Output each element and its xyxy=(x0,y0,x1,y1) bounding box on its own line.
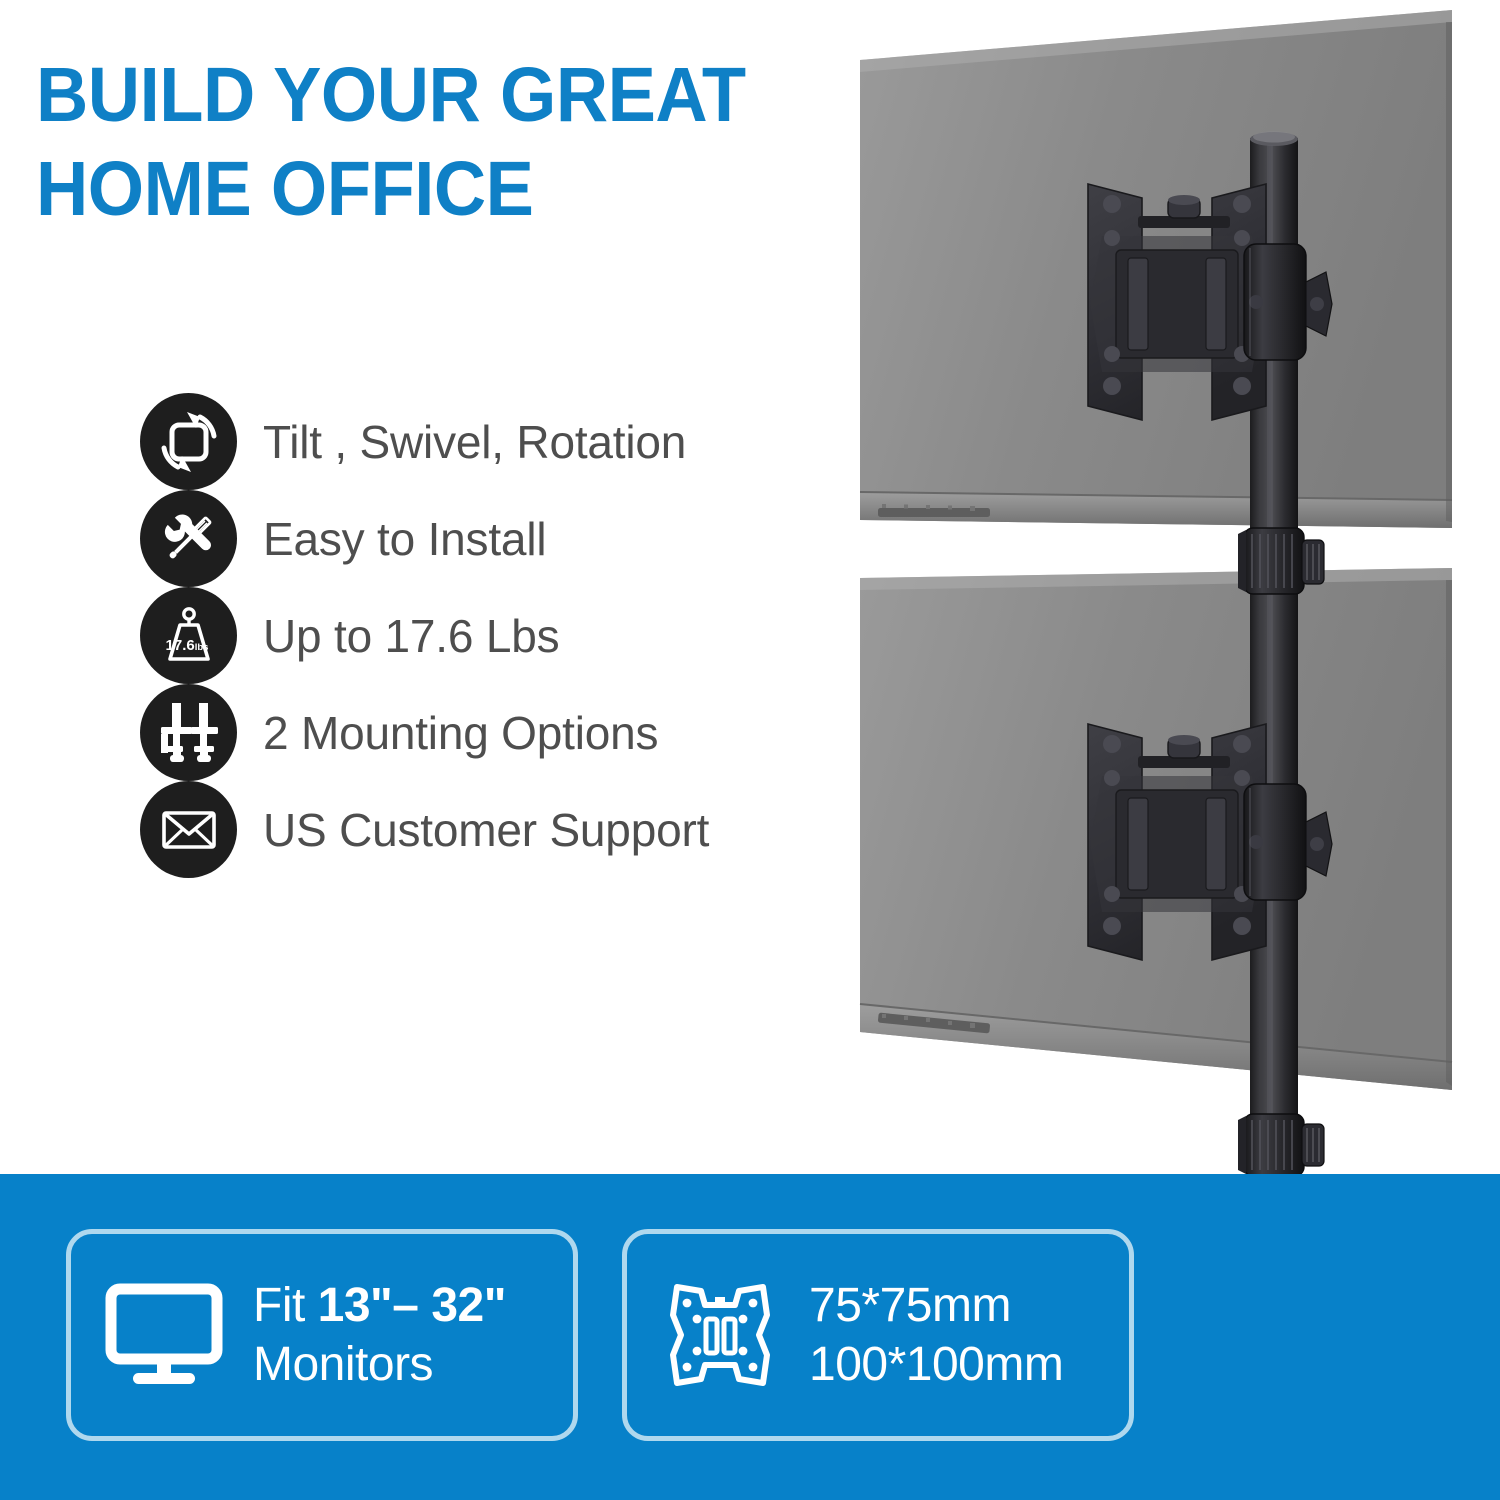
spec-size-range: 13"– 32" xyxy=(318,1279,506,1332)
vesa-plate-icon xyxy=(661,1277,779,1393)
specs-banner: Fit 13"– 32" Monitors 75*75mm xyxy=(0,1174,1500,1500)
feature-label: Up to 17.6 Lbs xyxy=(263,611,559,661)
feature-label: US Customer Support xyxy=(263,805,709,855)
tools-icon xyxy=(140,490,237,587)
spec-fit-prefix: Fit xyxy=(253,1279,318,1332)
spec-box-vesa-pattern: 75*75mm 100*100mm xyxy=(622,1229,1134,1441)
feature-item-easy-to-install: Easy to Install xyxy=(140,490,780,587)
pole-collar-upper xyxy=(1238,528,1324,594)
spec-vesa-line-1: 75*75mm xyxy=(809,1276,1063,1335)
spec-text-vesa-pattern: 75*75mm 100*100mm xyxy=(809,1276,1063,1394)
mounting-options-icon xyxy=(140,684,237,781)
page-title: BUILD YOUR GREAT HOME OFFICE xyxy=(36,48,863,236)
monitor-icon xyxy=(105,1283,223,1387)
feature-label: Tilt , Swivel, Rotation xyxy=(263,417,686,467)
feature-item-tilt-swivel-rotation: Tilt , Swivel, Rotation xyxy=(140,393,780,490)
spec-line-2: Monitors xyxy=(253,1335,506,1394)
spec-box-monitor-size: Fit 13"– 32" Monitors xyxy=(66,1229,578,1441)
feature-item-mounting-options: 2 Mounting Options xyxy=(140,684,780,781)
envelope-icon xyxy=(140,781,237,878)
tilt-swivel-rotation-icon xyxy=(140,393,237,490)
feature-label: 2 Mounting Options xyxy=(263,708,658,758)
feature-list: Tilt , Swivel, Rotation Easy to Install xyxy=(140,393,780,878)
feature-label: Easy to Install xyxy=(263,514,546,564)
pole-collar-lower xyxy=(1238,1114,1324,1176)
weight-icon: 17.6lbs xyxy=(140,587,237,684)
page-title-line-2: HOME OFFICE xyxy=(36,142,863,236)
spec-line-1: Fit 13"– 32" xyxy=(253,1276,506,1335)
feature-item-weight-capacity: 17.6lbs Up to 17.6 Lbs xyxy=(140,587,780,684)
spec-text-monitor-size: Fit 13"– 32" Monitors xyxy=(253,1276,506,1394)
spec-vesa-line-2: 100*100mm xyxy=(809,1335,1063,1394)
page-title-line-1: BUILD YOUR GREAT xyxy=(36,48,863,142)
feature-item-customer-support: US Customer Support xyxy=(140,781,780,878)
